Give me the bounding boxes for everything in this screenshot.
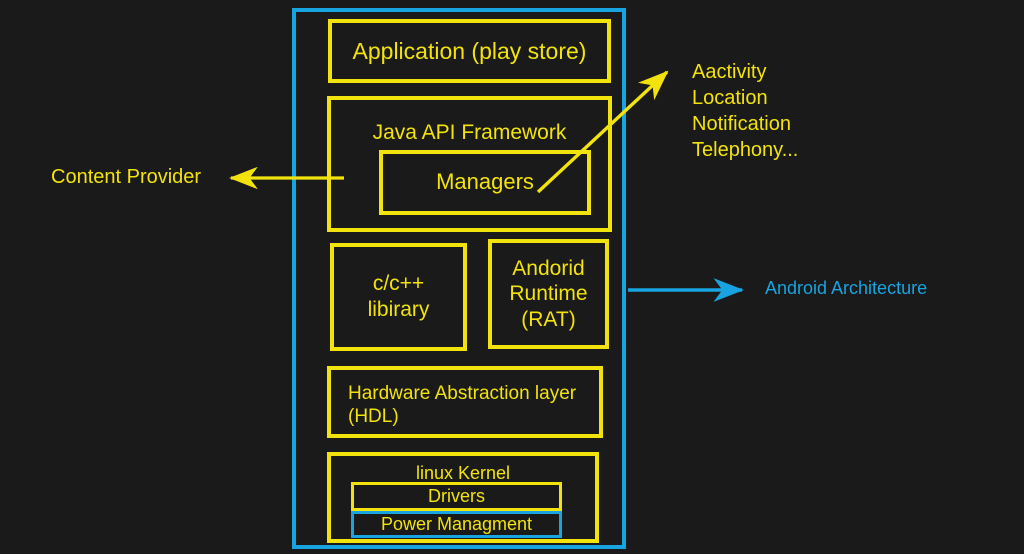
layer-label-hardware-abstraction-layer: Hardware Abstraction layer (HDL) [348,382,576,428]
annotation-content-provider: Content Provider [51,166,201,189]
layer-label-application: Application (play store) [353,37,587,65]
layer-label-managers: Managers [436,169,534,196]
annotation-android-architecture: Android Architecture [765,278,927,299]
layer-box-hardware-abstraction-layer[interactable]: Hardware Abstraction layer (HDL) [327,366,603,438]
layer-box-drivers[interactable]: Drivers [351,482,562,511]
layer-label-android-runtime: Andorid Runtime (RAT) [509,256,587,333]
annotation-manager-list: Aactivity Location Notification Telephon… [692,59,798,163]
layer-box-application[interactable]: Application (play store) [328,19,611,83]
layer-label-java-api-framework: Java API Framework [373,120,567,146]
layer-label-native-library: c/c++ libirary [368,271,430,322]
layer-box-power-management[interactable]: Power Managment [351,511,562,538]
layer-label-power-management: Power Managment [381,514,532,536]
layer-box-android-runtime[interactable]: Andorid Runtime (RAT) [488,239,609,349]
layer-box-managers[interactable]: Managers [379,150,591,215]
layer-label-drivers: Drivers [428,486,485,508]
layer-box-native-library[interactable]: c/c++ libirary [330,243,467,351]
diagram-canvas: Application (play store) Java API Framew… [0,0,1024,554]
